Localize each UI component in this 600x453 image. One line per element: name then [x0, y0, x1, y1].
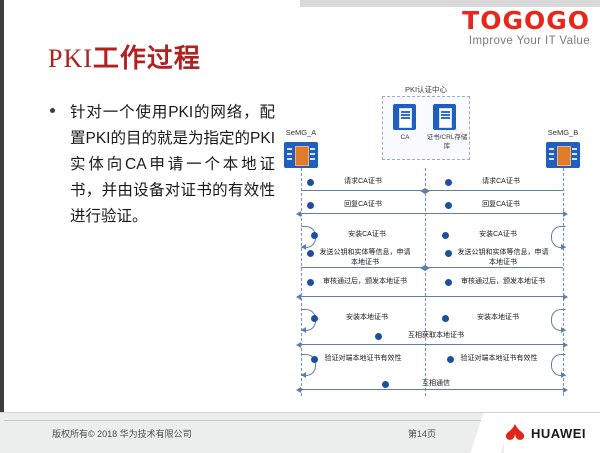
selfloop-right-step6: [551, 309, 566, 331]
step-left-5: 审核通过后，颁发本地证书: [318, 277, 412, 287]
slide-canvas: TOGOGO Improve Your IT Value PKI工作过程 针对一…: [0, 0, 600, 453]
lifeline-ca: [425, 168, 426, 396]
selfloop-right-step3: [551, 226, 566, 248]
page-title: PKI工作过程: [48, 38, 201, 75]
step-right-2: 回复CA证书: [456, 200, 546, 210]
pki-sequence-diagram: PKI认证中心 CA 证书/CRL存储库 SeMG_A SeMG_B 请求CA证…: [278, 84, 588, 396]
step-right-6: 安装本地证书: [453, 313, 543, 323]
arrow-left-step1: [301, 190, 425, 191]
repository-node-label: 证书/CRL存储库: [425, 133, 469, 151]
step-left-1: 请求CA证书: [318, 177, 408, 187]
ca-server-icon: [393, 104, 416, 130]
huawei-wordmark: HUAWEI: [531, 426, 586, 441]
slide-footer: 版权所有© 2018 华为技术有限公司 第14页 HUAWEI: [0, 412, 600, 453]
page-title-latin: PKI: [48, 44, 93, 73]
huawei-flower-icon: [504, 423, 526, 443]
step-left-7: 验证对端本地证书有效性: [322, 354, 404, 364]
semg-a-device-icon: [284, 142, 318, 168]
step-shared-communicate: 互相通信: [393, 379, 479, 389]
togogo-logo: TOGOGO Improve Your IT Value: [462, 8, 590, 48]
semg-b-label: SeMG_B: [533, 128, 593, 137]
arrow-right-step5: [425, 296, 563, 297]
logo-wordmark: TOGOGO: [462, 8, 590, 33]
step-right-3: 安装CA证书: [453, 230, 543, 240]
arrow-shared-exchange: [301, 344, 563, 345]
left-edge-strip: [0, 0, 4, 453]
huawei-logo: HUAWEI: [504, 413, 600, 453]
repository-server-icon: [433, 104, 456, 130]
page-title-cjk: 工作过程: [93, 44, 201, 73]
arrow-left-step5: [301, 296, 425, 297]
step-left-4: 发送公钥和实体等信息，申请本地证书: [318, 248, 412, 267]
semg-b-device-icon: [546, 142, 580, 168]
semg-a-label: SeMG_A: [271, 128, 331, 137]
arrow-left-step2: [301, 213, 425, 214]
arrow-right-step4: [425, 267, 563, 268]
bullet-block: 针对一个使用PKI的网络，配置PKI的目的就是为指定的PKI实体向CA申请一个本…: [50, 100, 275, 230]
arrow-right-step1: [425, 190, 563, 191]
page-number: 第14页: [408, 427, 436, 440]
ca-node-label: CA: [385, 133, 425, 142]
arrow-right-step2: [425, 213, 563, 214]
ca-center-box: CA 证书/CRL存储库: [382, 96, 470, 160]
step-right-7: 验证对端本地证书有效性: [458, 354, 540, 364]
logo-tagline: Improve Your IT Value: [462, 36, 590, 48]
copyright-text: 版权所有© 2018 华为技术有限公司: [52, 427, 192, 440]
arrow-left-step4: [301, 267, 425, 268]
step-shared-exchange: 互相获取本地证书: [386, 331, 486, 341]
ca-center-title: PKI认证中心: [366, 84, 486, 95]
selfloop-right-step7: [551, 354, 566, 376]
step-right-5: 审核通过后，颁发本地证书: [456, 277, 550, 287]
arrow-shared-communicate: [301, 389, 563, 390]
step-right-4: 发送公钥和实体等信息，申请本地证书: [456, 248, 550, 267]
step-left-2: 回复CA证书: [318, 200, 408, 210]
bullet-text: 针对一个使用PKI的网络，配置PKI的目的就是为指定的PKI实体向CA申请一个本…: [70, 100, 275, 230]
step-right-1: 请求CA证书: [456, 177, 546, 187]
bullet-marker-icon: [50, 108, 55, 113]
step-left-3: 安装CA证书: [322, 230, 412, 240]
step-left-6: 安装本地证书: [322, 313, 412, 323]
